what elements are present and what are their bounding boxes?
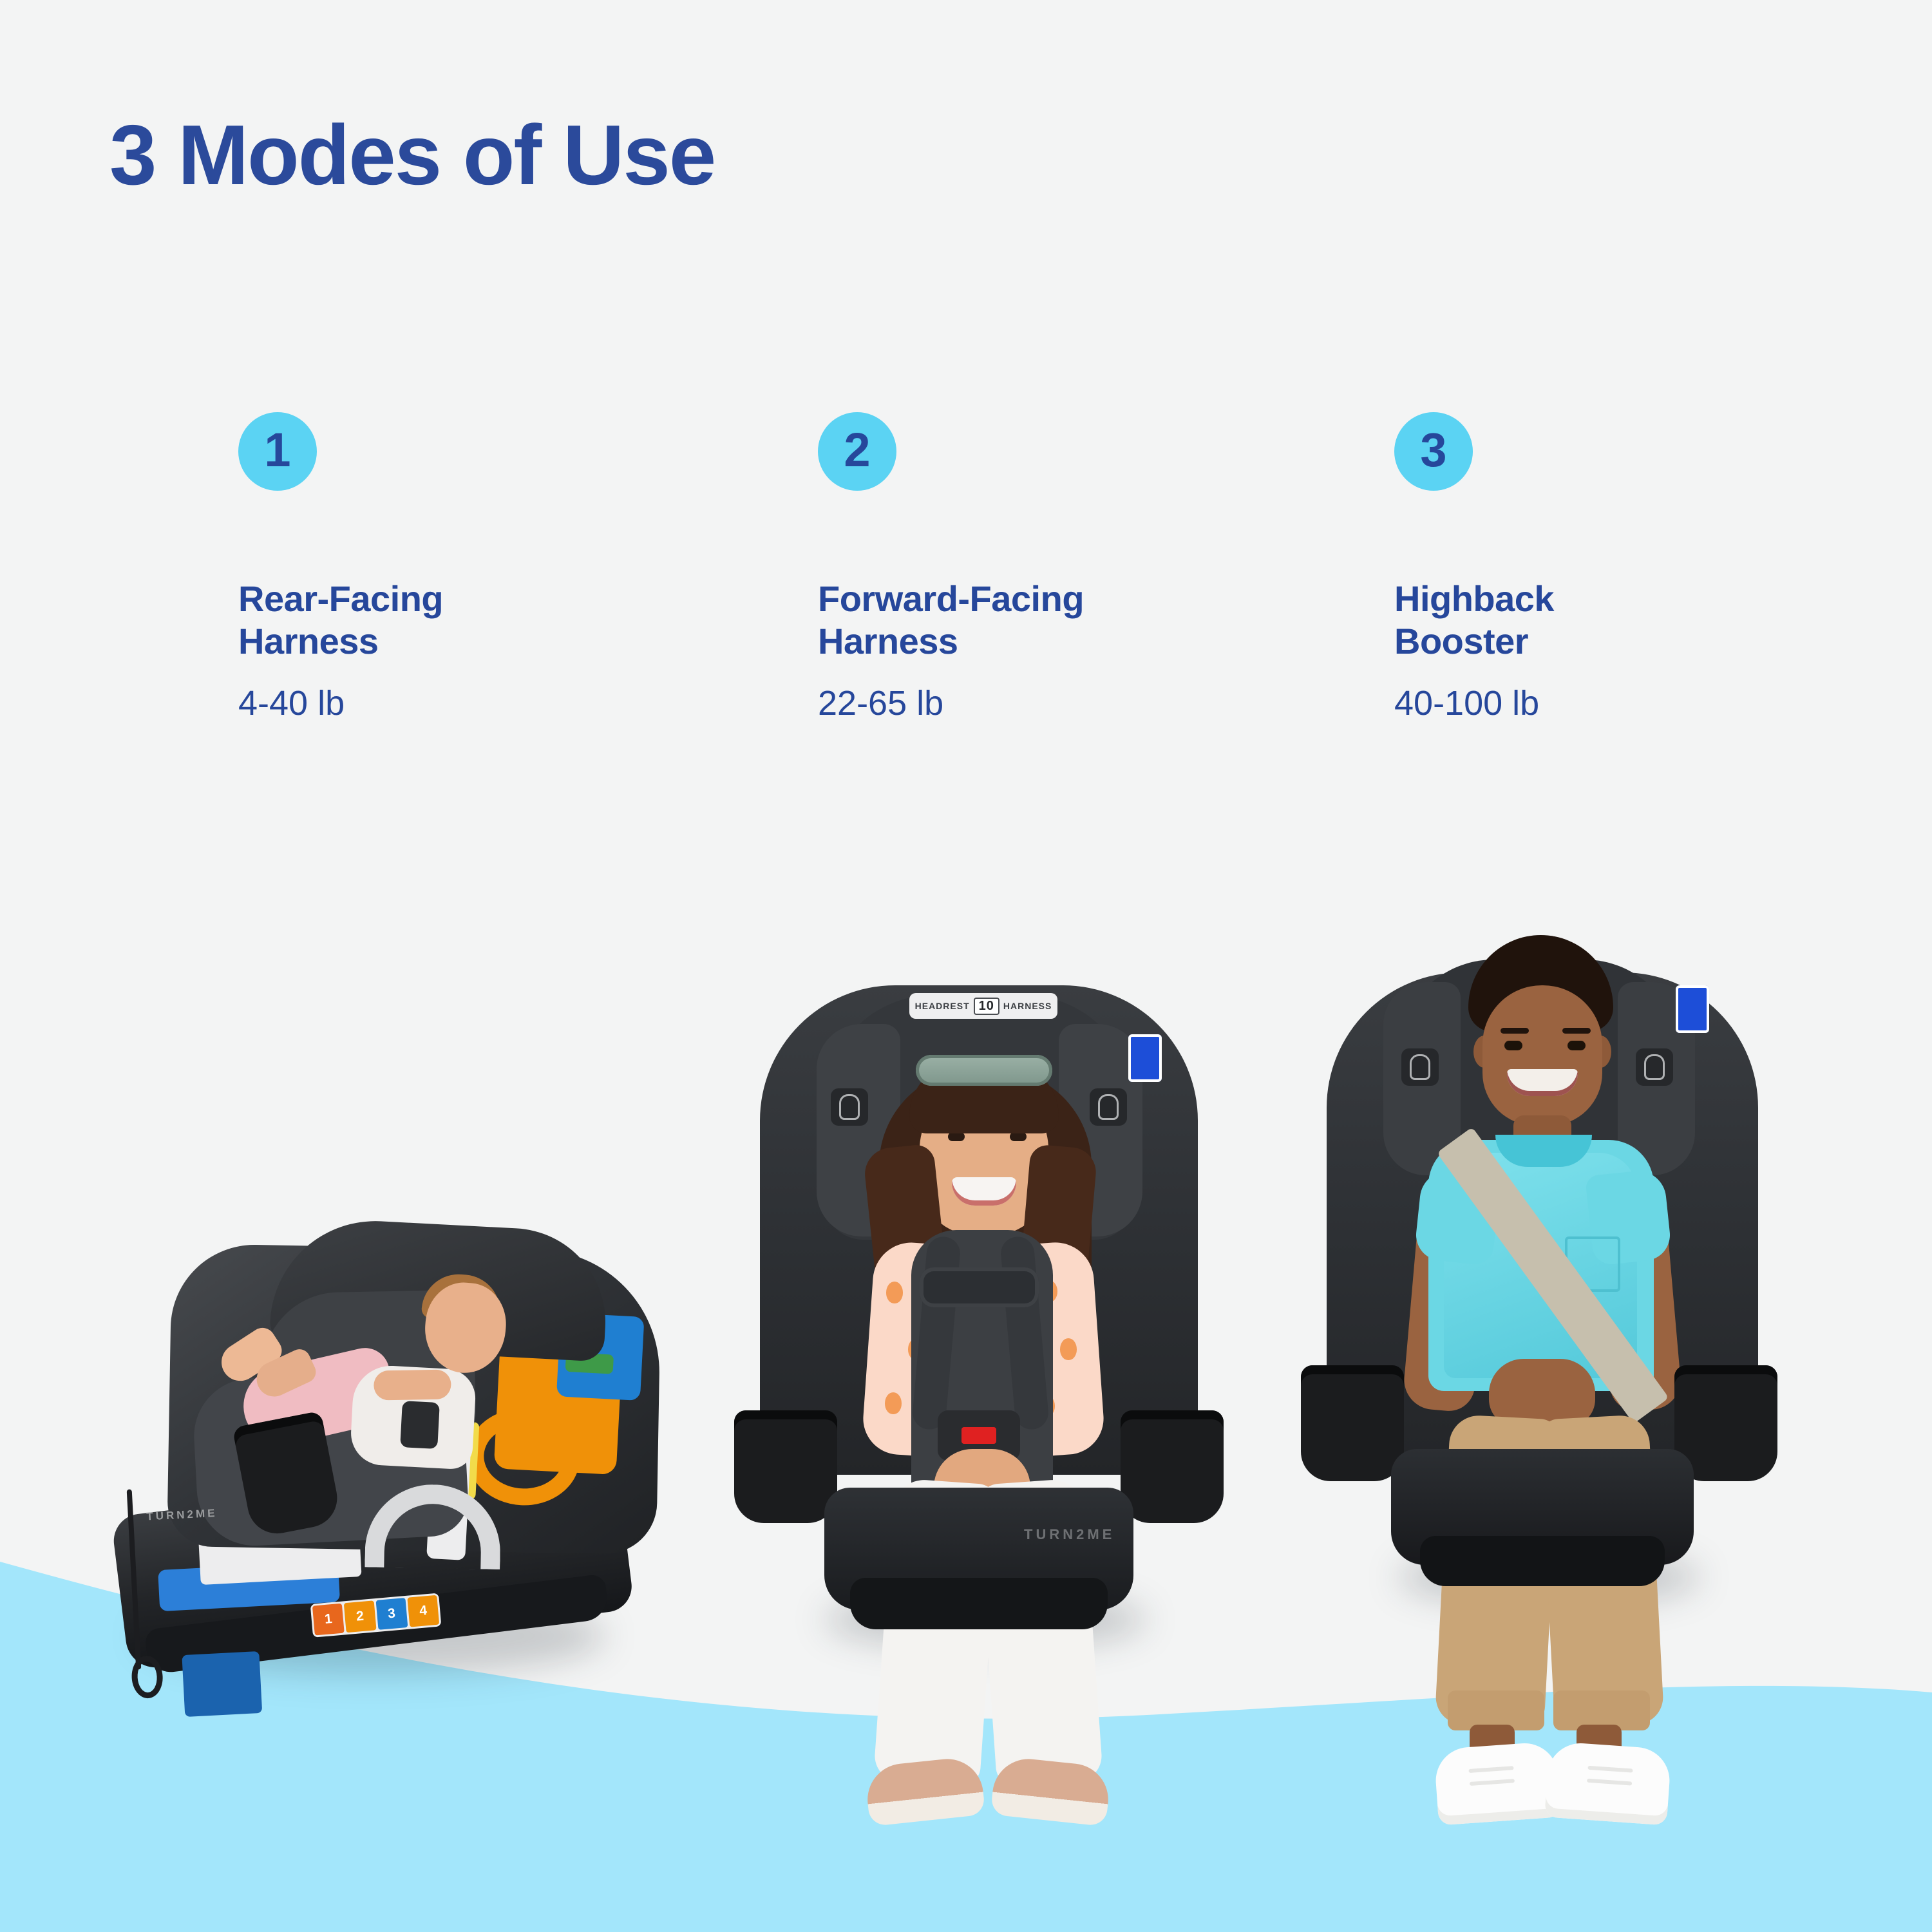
photo-rear-facing-seat: 1 2 3 4 TURN2ME <box>84 1211 728 1674</box>
chest-clip <box>920 1267 1039 1307</box>
boy-brow-left <box>1501 1028 1529 1034</box>
shoe-lace <box>1468 1766 1513 1773</box>
mode-column-rear-facing: 1 Rear-Facing Harness 4-40 lb <box>238 412 766 723</box>
cup-holder-left <box>1301 1365 1404 1481</box>
shirt-pattern-dot <box>885 1392 902 1414</box>
headrest-label-suffix: HARNESS <box>1003 1001 1052 1011</box>
boy-brow-right <box>1562 1028 1591 1034</box>
mode-title-line-1: Rear-Facing <box>238 578 638 620</box>
boy-shoe-right <box>1544 1741 1672 1826</box>
shirt-pattern-dot <box>1060 1338 1077 1360</box>
mode-weight-forward-facing: 22-65 lb <box>818 685 1346 723</box>
mode-title-line-1: Forward-Facing <box>818 578 1217 620</box>
brand-tag <box>1128 1034 1162 1082</box>
step-badge-2: 2 <box>818 412 896 491</box>
mode-title-forward-facing: Forward-Facing Harness <box>818 578 1217 663</box>
sunglasses-icon <box>916 1055 1052 1086</box>
boy-face <box>1482 985 1602 1126</box>
shirt-pattern-dot <box>886 1282 903 1303</box>
page-title: 3 Modes of Use <box>109 113 715 198</box>
warning-label-blue-small <box>182 1651 262 1717</box>
step-badge-number: 3 <box>1420 426 1446 474</box>
brand-mark: TURN2ME <box>1024 1526 1115 1543</box>
step-badge-1: 1 <box>238 412 317 491</box>
boy-mouth <box>1507 1069 1578 1096</box>
mode-title-line-2: Booster <box>1394 620 1794 663</box>
side-impact-tested-icon-left <box>831 1088 868 1126</box>
mode-column-forward-facing: 2 Forward-Facing Harness 22-65 lb <box>818 412 1346 723</box>
booster-base-foot <box>1420 1536 1665 1586</box>
side-impact-tested-icon-right <box>1636 1048 1673 1086</box>
headrest-label-prefix: HEADREST <box>915 1001 970 1011</box>
mode-title-line-2: Harness <box>818 620 1217 663</box>
step-badge-3: 3 <box>1394 412 1473 491</box>
mode-sticker-2: 2 <box>344 1600 376 1633</box>
boy-eye-right <box>1567 1041 1586 1050</box>
headrest-positions-count: 10 <box>974 998 999 1015</box>
mode-column-highback-booster: 3 Highback Booster 40-100 lb <box>1394 412 1922 723</box>
baby-arm <box>374 1369 451 1400</box>
mode-weight-rear-facing: 4-40 lb <box>238 685 766 723</box>
product-photo-stage: 1 2 3 4 TURN2ME HEADREST 10 HARNESS <box>0 0 1932 1932</box>
side-impact-tested-icon-right <box>1090 1088 1127 1126</box>
photo-highback-booster <box>1307 914 1771 1816</box>
shoe-lace <box>1587 1766 1633 1773</box>
step-badge-number: 2 <box>844 426 870 474</box>
mode-sticker-1: 1 <box>312 1604 345 1636</box>
mode-title-line-1: Highback <box>1394 578 1794 620</box>
seat-base-foot <box>850 1578 1108 1629</box>
harness-buckle <box>400 1401 440 1449</box>
boy-shoe-left <box>1434 1741 1561 1826</box>
cup-holder-right <box>1121 1410 1224 1523</box>
step-badge-number: 1 <box>264 426 290 474</box>
girl-eye-right <box>1010 1132 1027 1141</box>
girl-eye-left <box>948 1132 965 1141</box>
mode-title-rear-facing: Rear-Facing Harness <box>238 578 638 663</box>
mode-sticker-4: 4 <box>407 1595 439 1627</box>
photo-forward-facing-seat: HEADREST 10 HARNESS <box>747 960 1211 1797</box>
boy-eye-left <box>1504 1041 1522 1050</box>
mode-title-highback-booster: Highback Booster <box>1394 578 1794 663</box>
boy-hands <box>1489 1359 1595 1426</box>
cup-holder-left <box>734 1410 837 1523</box>
mode-title-line-2: Harness <box>238 620 638 663</box>
shoe-lace <box>1587 1779 1632 1786</box>
mode-weight-highback-booster: 40-100 lb <box>1394 685 1922 723</box>
shoe-lace <box>1470 1779 1515 1786</box>
headrest-harness-label: HEADREST 10 HARNESS <box>909 993 1057 1019</box>
brand-tag <box>1676 985 1709 1033</box>
mode-sticker-3: 3 <box>375 1598 408 1630</box>
side-impact-tested-icon-left <box>1401 1048 1439 1086</box>
